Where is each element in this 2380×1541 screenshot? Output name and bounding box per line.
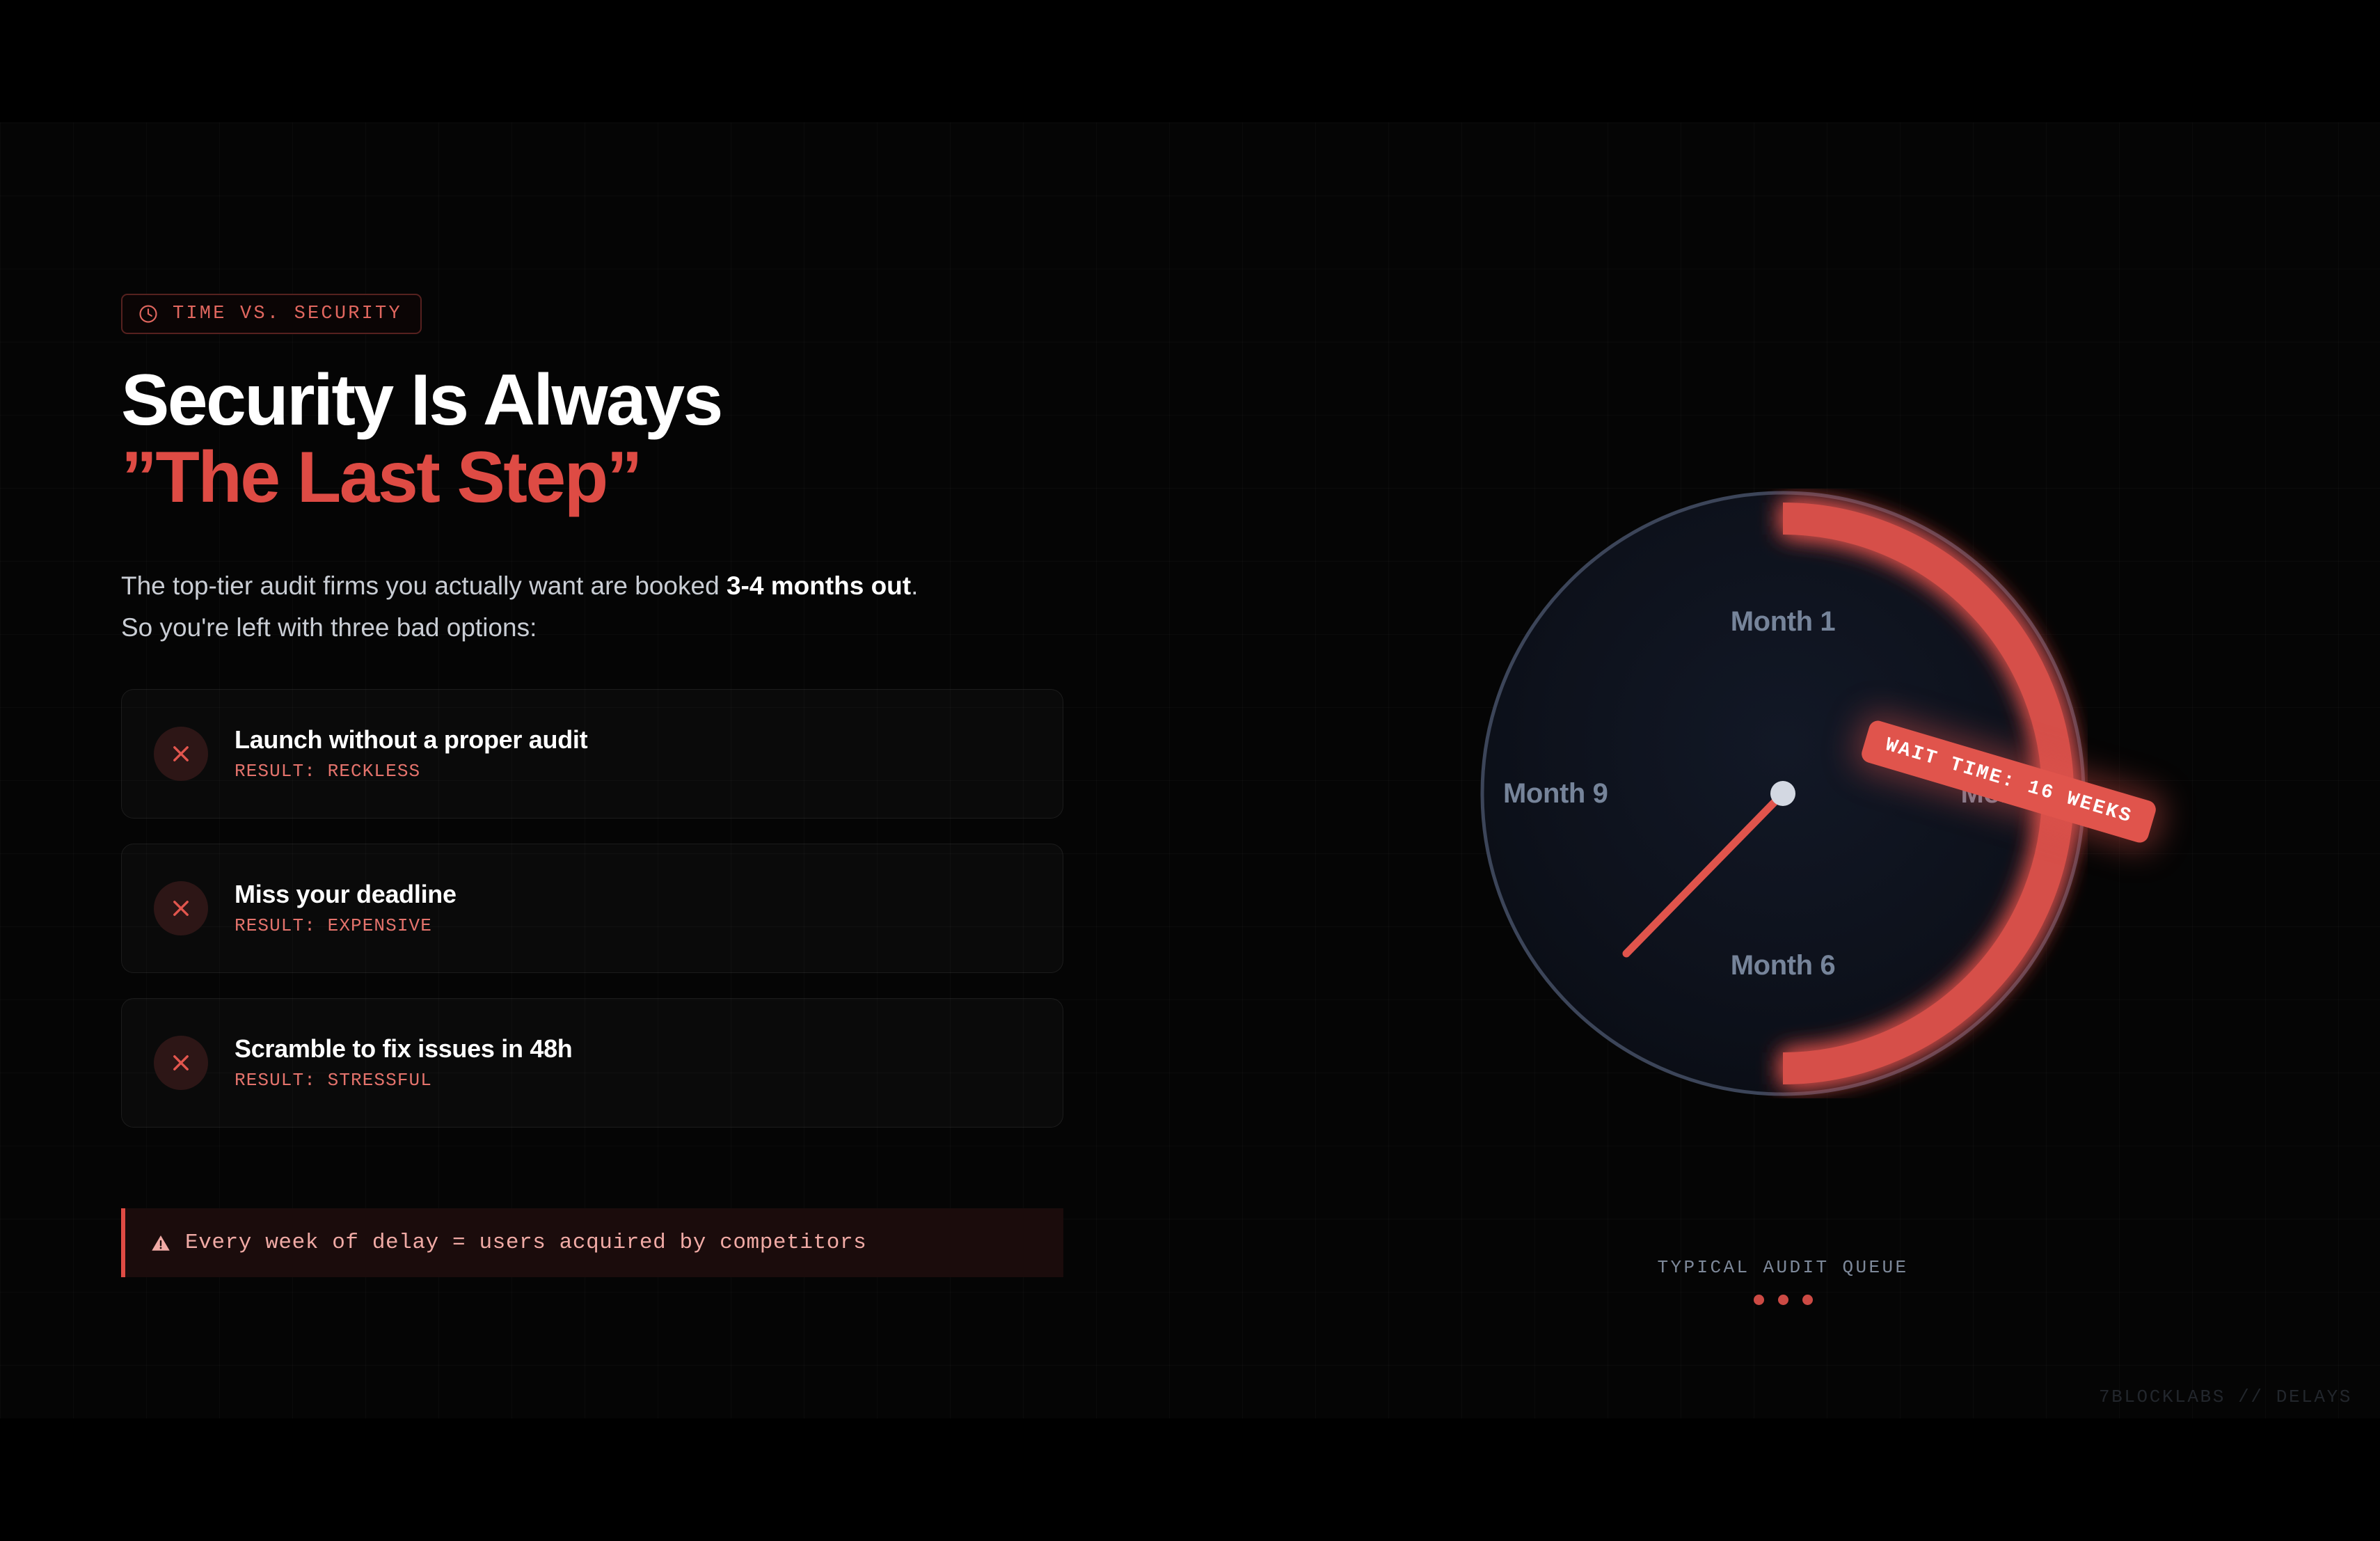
option-text: Scramble to fix issues in 48h RESULT: ST… bbox=[235, 1036, 573, 1089]
warning-banner: Every week of delay = users acquired by … bbox=[121, 1208, 1063, 1277]
left-content-column: TIME VS. SECURITY Security Is Always ”Th… bbox=[121, 294, 1068, 1277]
option-result: RESULT: RECKLESS bbox=[235, 762, 587, 780]
needle-hub bbox=[1770, 781, 1795, 806]
footer-tag: 7BLOCKLABS // DELAYS bbox=[2099, 1388, 2352, 1406]
list-item[interactable]: Launch without a proper audit RESULT: RE… bbox=[121, 689, 1063, 819]
warning-triangle-icon bbox=[150, 1233, 171, 1254]
letterbox-bottom bbox=[0, 1418, 2380, 1541]
subtitle-emphasis: 3-4 months out bbox=[727, 571, 911, 600]
x-icon bbox=[154, 727, 208, 781]
dial-label-month-9: Month 9 bbox=[1503, 780, 1608, 807]
clock-icon bbox=[138, 303, 159, 324]
dial-label-month-1: Month 1 bbox=[1731, 608, 1836, 635]
option-result: RESULT: STRESSFUL bbox=[235, 1071, 573, 1089]
subtitle-line-2: So you're left with three bad options: bbox=[121, 607, 1068, 649]
eyebrow-badge: TIME VS. SECURITY bbox=[121, 294, 422, 334]
gauge-caption-text: TYPICAL AUDIT QUEUE bbox=[1657, 1257, 1908, 1278]
option-title: Launch without a proper audit bbox=[235, 727, 587, 752]
subtitle-text-b: . bbox=[911, 571, 918, 600]
option-text: Miss your deadline RESULT: EXPENSIVE bbox=[235, 882, 457, 935]
option-text: Launch without a proper audit RESULT: RE… bbox=[235, 727, 587, 780]
page-title: Security Is Always ”The Last Step” bbox=[121, 362, 1068, 517]
dial-label-month-6: Month 6 bbox=[1731, 951, 1836, 979]
bad-options-list: Launch without a proper audit RESULT: RE… bbox=[121, 689, 1068, 1128]
gauge-caption: TYPICAL AUDIT QUEUE bbox=[1478, 1258, 2088, 1305]
subtitle-line-1: The top-tier audit firms you actually wa… bbox=[121, 565, 1068, 607]
list-item[interactable]: Miss your deadline RESULT: EXPENSIVE bbox=[121, 844, 1063, 973]
headline-line-2: ”The Last Step” bbox=[121, 439, 1068, 516]
dot-3 bbox=[1802, 1295, 1813, 1305]
loading-dots bbox=[1478, 1295, 2088, 1305]
headline-line-1: Security Is Always bbox=[121, 362, 1068, 439]
option-title: Scramble to fix issues in 48h bbox=[235, 1036, 573, 1061]
dot-1 bbox=[1754, 1295, 1764, 1305]
list-item[interactable]: Scramble to fix issues in 48h RESULT: ST… bbox=[121, 998, 1063, 1128]
slide-stage: TIME VS. SECURITY Security Is Always ”Th… bbox=[0, 0, 2380, 1541]
x-icon bbox=[154, 881, 208, 935]
eyebrow-label: TIME VS. SECURITY bbox=[173, 305, 402, 324]
subtitle-text-a: The top-tier audit firms you actually wa… bbox=[121, 571, 727, 600]
subtitle: The top-tier audit firms you actually wa… bbox=[121, 565, 1068, 649]
dot-2 bbox=[1778, 1295, 1788, 1305]
x-icon bbox=[154, 1036, 208, 1090]
warning-text: Every week of delay = users acquired by … bbox=[185, 1232, 866, 1254]
option-result: RESULT: EXPENSIVE bbox=[235, 917, 457, 935]
letterbox-top bbox=[0, 0, 2380, 123]
slide-canvas: TIME VS. SECURITY Security Is Always ”Th… bbox=[0, 123, 2380, 1418]
option-title: Miss your deadline bbox=[235, 882, 457, 907]
